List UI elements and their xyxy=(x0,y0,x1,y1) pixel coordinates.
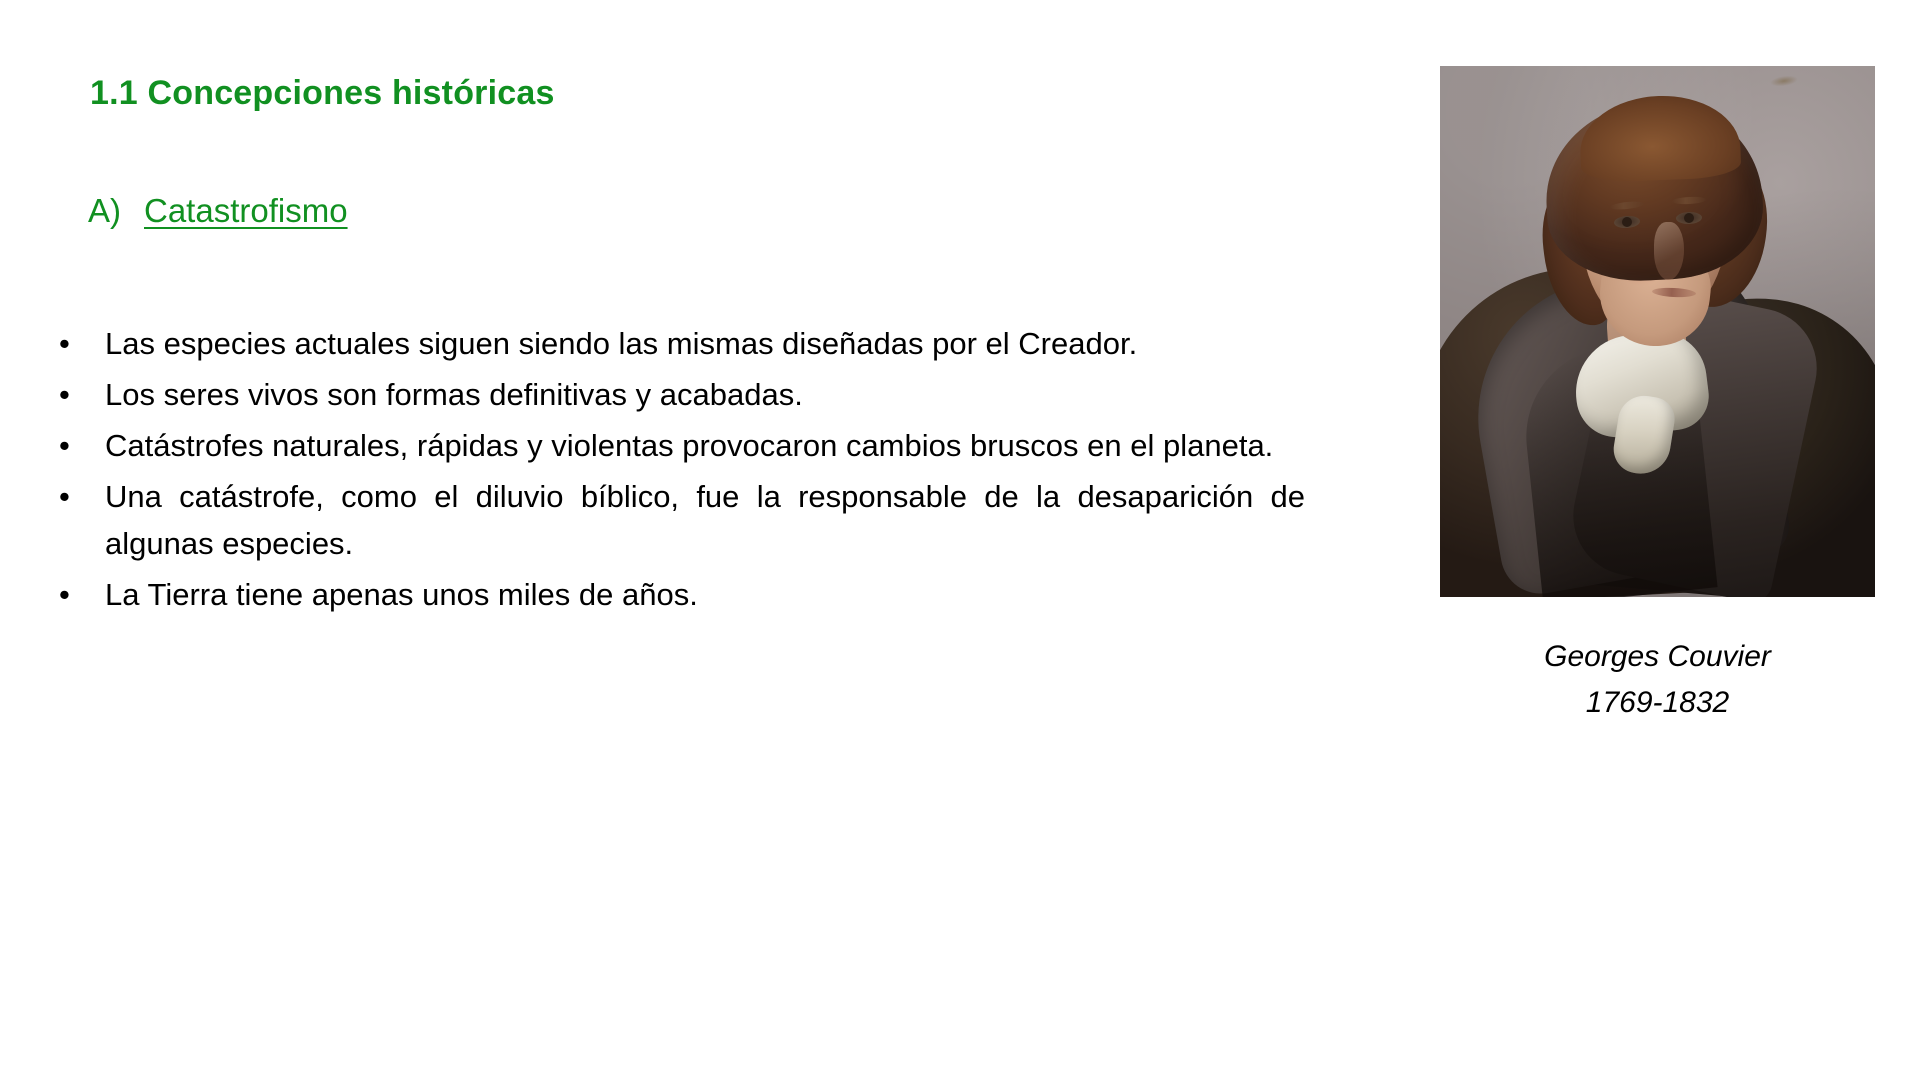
bullet-point-icon: • xyxy=(59,320,79,367)
list-item-text: Los seres vivos son formas definitivas y… xyxy=(105,371,1305,418)
subsection-label-catastrofismo: Catastrofismo xyxy=(144,192,348,230)
list-item-text: Las especies actuales siguen siendo las … xyxy=(105,320,1305,367)
bullet-point-icon: • xyxy=(59,571,79,618)
subsection-heading: A) Catastrofismo xyxy=(88,192,348,230)
list-item: • Las especies actuales siguen siendo la… xyxy=(55,320,1305,367)
pupil-left xyxy=(1622,217,1632,227)
slide-canvas: 1.1 Concepciones históricas A) Catastrof… xyxy=(0,0,1920,1080)
list-item-text: La Tierra tiene apenas unos miles de año… xyxy=(105,571,1305,618)
list-item: • Una catástrofe, como el diluvio bíblic… xyxy=(55,473,1305,567)
bullet-point-icon: • xyxy=(59,422,79,469)
list-item-text: Una catástrofe, como el diluvio bíblico,… xyxy=(105,473,1305,567)
bullet-list: • Las especies actuales siguen siendo la… xyxy=(55,320,1305,622)
list-item-text: Catástrofes naturales, rápidas y violent… xyxy=(105,422,1305,469)
portrait-caption-name: Georges Couvier xyxy=(1440,634,1875,680)
list-item: • Los seres vivos son formas definitivas… xyxy=(55,371,1305,418)
page-title: 1.1 Concepciones históricas xyxy=(90,74,555,113)
portrait-figure xyxy=(1440,66,1875,597)
subsection-marker: A) xyxy=(88,192,144,230)
list-item: • Catástrofes naturales, rápidas y viole… xyxy=(55,422,1305,469)
bullet-point-icon: • xyxy=(59,371,79,418)
bullet-point-icon: • xyxy=(59,473,79,520)
list-item: • La Tierra tiene apenas unos miles de a… xyxy=(55,571,1305,618)
portrait-caption-dates: 1769-1832 xyxy=(1440,680,1875,726)
pupil-right xyxy=(1684,213,1694,223)
portrait-of-georges-cuvier-image xyxy=(1440,66,1875,597)
portrait-caption: Georges Couvier 1769-1832 xyxy=(1440,634,1875,726)
